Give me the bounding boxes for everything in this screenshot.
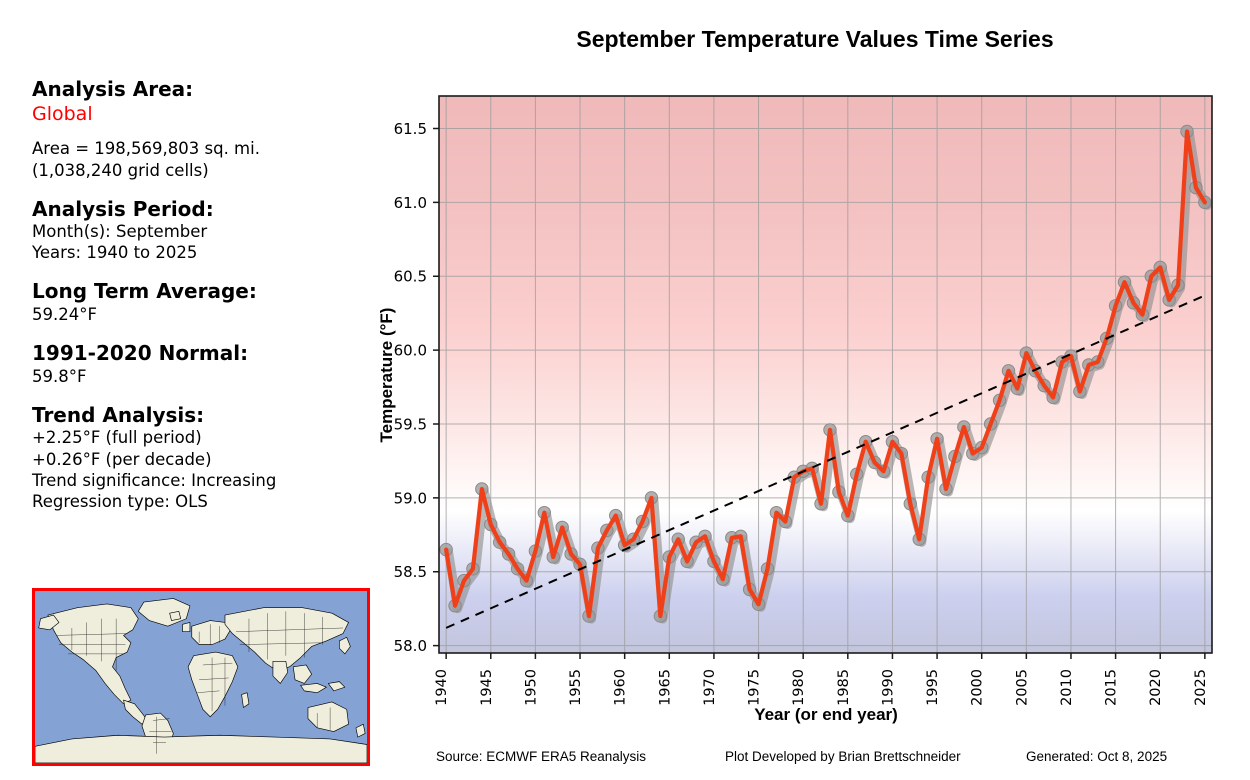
x-tick-label: 1985 bbox=[836, 669, 852, 706]
y-tick-label: 60.5 bbox=[394, 268, 427, 286]
analysis-period-heading: Analysis Period: bbox=[32, 198, 372, 222]
x-tick-label: 1970 bbox=[702, 669, 718, 706]
page-title: September Temperature Values Time Series bbox=[400, 26, 1230, 53]
x-tick-label: 1940 bbox=[434, 669, 450, 706]
footer-source: Source: ECMWF ERA5 Reanalysis bbox=[436, 749, 646, 764]
normal-heading: 1991-2020 Normal: bbox=[32, 342, 372, 366]
x-tick-label: 1945 bbox=[479, 669, 495, 706]
x-tick-label: 2005 bbox=[1014, 669, 1030, 706]
analysis-info-panel: Analysis Area: Global Area = 198,569,803… bbox=[32, 78, 372, 512]
area-size-line: Area = 198,569,803 sq. mi. bbox=[32, 138, 372, 159]
trend-per-decade: +0.26°F (per decade) bbox=[32, 449, 372, 470]
series-line-shadow bbox=[449, 134, 1208, 619]
trend-significance: Trend significance: Increasing bbox=[32, 470, 372, 491]
footer-generated: Generated: Oct 8, 2025 bbox=[1026, 749, 1167, 764]
analysis-period-years: Years: 1940 to 2025 bbox=[32, 242, 372, 263]
long-term-average-heading: Long Term Average: bbox=[32, 280, 372, 304]
trend-full-period: +2.25°F (full period) bbox=[32, 427, 372, 448]
x-axis-ticks: 1940194519501955196019651970197519801985… bbox=[434, 653, 1209, 706]
x-tick-label: 1955 bbox=[568, 669, 584, 706]
x-tick-label: 1950 bbox=[523, 669, 539, 706]
series-markers bbox=[440, 125, 1211, 622]
x-tick-label: 2000 bbox=[970, 669, 986, 706]
normal-value: 59.8°F bbox=[32, 366, 372, 387]
x-tick-label: 2015 bbox=[1104, 669, 1120, 706]
world-map-icon bbox=[35, 591, 367, 763]
analysis-area-value: Global bbox=[32, 103, 372, 126]
y-tick-label: 61.0 bbox=[394, 194, 427, 212]
plot-frame bbox=[439, 96, 1212, 653]
long-term-average-value: 59.24°F bbox=[32, 304, 372, 325]
y-tick-label: 58.0 bbox=[394, 637, 427, 655]
y-tick-label: 61.5 bbox=[394, 120, 427, 138]
x-tick-label: 2020 bbox=[1148, 669, 1164, 706]
x-tick-label: 2025 bbox=[1193, 669, 1209, 706]
world-map-inset bbox=[32, 588, 370, 766]
x-tick-label: 1965 bbox=[657, 669, 673, 706]
analysis-period-months: Month(s): September bbox=[32, 221, 372, 242]
analysis-area-heading: Analysis Area: bbox=[32, 78, 372, 102]
x-tick-label: 1995 bbox=[925, 669, 941, 706]
y-tick-label: 60.0 bbox=[394, 342, 427, 360]
footer-developer: Plot Developed by Brian Brettschneider bbox=[725, 749, 961, 764]
trend-line bbox=[446, 295, 1205, 627]
y-axis-ticks: 58.058.559.059.560.060.561.061.5 bbox=[394, 120, 439, 655]
x-tick-label: 1975 bbox=[747, 669, 763, 706]
regression-type: Regression type: OLS bbox=[32, 491, 372, 512]
x-axis-title: Year (or end year) bbox=[754, 705, 898, 724]
series-line bbox=[446, 131, 1205, 616]
trend-analysis-heading: Trend Analysis: bbox=[32, 404, 372, 428]
grid-lines bbox=[439, 96, 1212, 653]
y-tick-label: 59.0 bbox=[394, 489, 427, 507]
y-tick-label: 58.5 bbox=[394, 563, 427, 581]
x-tick-label: 1960 bbox=[613, 669, 629, 706]
grid-cells-line: (1,038,240 grid cells) bbox=[32, 160, 372, 181]
plot-background bbox=[439, 96, 1212, 653]
x-tick-label: 1990 bbox=[880, 669, 896, 706]
x-tick-label: 2010 bbox=[1059, 669, 1075, 706]
y-tick-label: 59.5 bbox=[394, 415, 427, 433]
y-axis-title: Temperature (°F) bbox=[377, 308, 396, 443]
x-tick-label: 1980 bbox=[791, 669, 807, 706]
